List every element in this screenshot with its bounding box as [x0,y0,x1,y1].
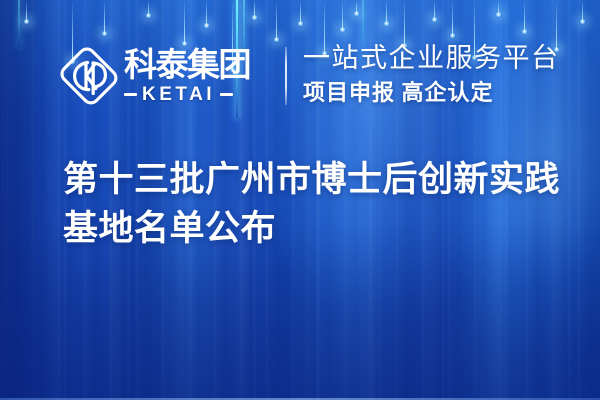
light-streak [356,0,357,14]
brand-name-en: KETAI [142,85,215,104]
brand-logo-row: 科泰集团 KETAI [60,44,268,110]
dash-left [124,93,137,96]
tagline-sub: 项目申报 高企认定 [303,80,560,106]
light-streak [184,0,185,44]
brand-wordmark: 科泰集团 KETAI [124,44,268,110]
light-streak [342,0,343,30]
light-streak-head [579,18,586,25]
accent-cyan-line [18,0,20,48]
light-streak-head [353,10,360,17]
light-streak [300,0,301,24]
light-streak-head [203,22,210,29]
light-streak [386,0,387,24]
banner-title: 第十三批广州市博士后创新实践基地名单公布 [63,155,568,253]
light-streak-head [495,11,502,18]
light-streak-head [23,18,30,25]
ketai-diamond-kd-logo-icon [60,47,118,105]
light-streak-head [449,32,456,39]
light-streak-head [431,16,438,23]
light-streak [434,0,435,20]
tagline-main: 一站式企业服务平台 [303,42,560,74]
brand-name-cn-text: 科泰集团 [124,46,250,83]
light-streak-head [297,20,304,27]
light-streak-head [383,20,390,27]
light-streak [254,0,255,18]
light-streak [404,0,405,46]
light-streak [206,0,207,26]
light-streak [582,0,583,22]
light-streak [276,0,277,40]
dash-right [220,93,233,96]
light-streak-head [145,12,152,19]
light-streak [148,0,149,16]
light-streak [104,0,105,34]
brand-name-cn: 科泰集团 [124,45,268,85]
light-streak-head [101,30,108,37]
header-divider [285,47,287,105]
light-streak-head [521,28,528,35]
brand-logo: 科泰集团 KETAI [60,44,268,110]
light-streak-head [339,26,346,33]
promo-banner: 科泰集团 KETAI 一站式企业服务平台 项目申报 高企认定 第十三批广州市博士… [0,0,600,400]
light-streak-head [273,36,280,43]
light-streak [452,0,453,36]
light-streak-head [251,14,258,21]
light-streak [26,0,27,22]
tagline-group: 一站式企业服务平台 项目申报 高企认定 [303,42,560,106]
brand-name-en-row: KETAI [124,85,274,104]
light-streak [498,0,499,15]
light-streak [524,0,525,32]
